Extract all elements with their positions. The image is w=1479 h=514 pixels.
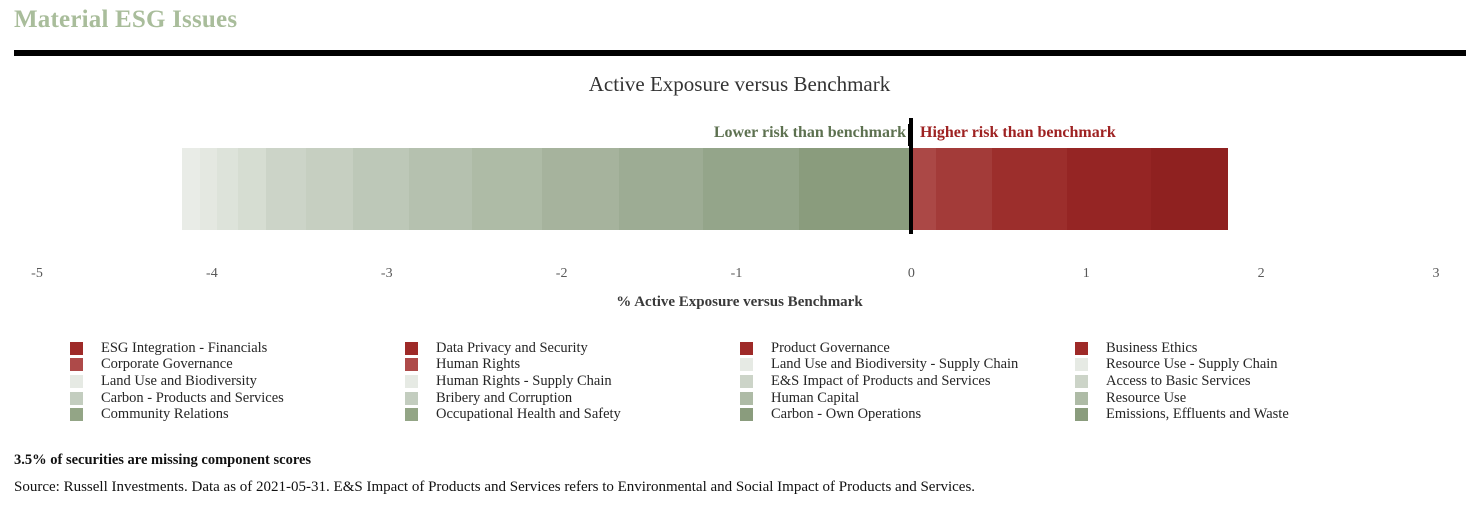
legend-item[interactable]: Community Relations xyxy=(70,406,405,423)
legend-swatch-icon xyxy=(405,392,418,405)
legend-column: Business EthicsResource Use - Supply Cha… xyxy=(1075,340,1410,423)
bar-segment xyxy=(619,148,703,230)
bar-segment xyxy=(353,148,409,230)
bar-segment xyxy=(936,148,992,230)
legend-item-label: Resource Use xyxy=(1106,390,1186,407)
bar-segment xyxy=(472,148,542,230)
x-axis-tick: 1 xyxy=(1083,266,1090,282)
legend-item[interactable]: Human Rights xyxy=(405,357,740,374)
bar-segment xyxy=(238,148,266,230)
legend-item-label: Carbon - Products and Services xyxy=(101,390,284,407)
legend-item-label: Community Relations xyxy=(101,406,229,423)
legend-item[interactable]: ESG Integration - Financials xyxy=(70,340,405,357)
legend-swatch-icon xyxy=(70,408,83,421)
legend-item-label: Emissions, Effluents and Waste xyxy=(1106,406,1289,423)
bar-segment xyxy=(703,148,799,230)
legend-item-label: Occupational Health and Safety xyxy=(436,406,621,423)
legend-swatch-icon xyxy=(1075,408,1088,421)
legend-item-label: Human Rights - Supply Chain xyxy=(436,373,612,390)
title-divider xyxy=(14,50,1466,56)
legend-item[interactable]: Resource Use - Supply Chain xyxy=(1075,357,1410,374)
legend-item[interactable]: Human Rights - Supply Chain xyxy=(405,373,740,390)
legend-item[interactable]: Carbon - Products and Services xyxy=(70,390,405,407)
legend-item-label: Human Rights xyxy=(436,356,520,373)
legend-item-label: Resource Use - Supply Chain xyxy=(1106,356,1278,373)
legend-swatch-icon xyxy=(1075,358,1088,371)
legend-item-label: Human Capital xyxy=(771,390,859,407)
lower-risk-label: Lower risk than benchmark xyxy=(714,124,906,142)
page-title: Material ESG Issues xyxy=(14,6,237,34)
bar-segment xyxy=(182,148,199,230)
bar-segment xyxy=(1067,148,1151,230)
legend-item[interactable]: Business Ethics xyxy=(1075,340,1410,357)
legend-item-label: E&S Impact of Products and Services xyxy=(771,373,990,390)
legend-item[interactable]: Emissions, Effluents and Waste xyxy=(1075,406,1410,423)
x-axis-tick: -4 xyxy=(206,266,218,282)
legend-item-label: Carbon - Own Operations xyxy=(771,406,921,423)
legend-item[interactable]: E&S Impact of Products and Services xyxy=(740,373,1075,390)
legend-swatch-icon xyxy=(405,375,418,388)
x-axis-label: % Active Exposure versus Benchmark xyxy=(0,294,1479,311)
legend-item-label: Access to Basic Services xyxy=(1106,373,1251,390)
legend-item[interactable]: Land Use and Biodiversity - Supply Chain xyxy=(740,357,1075,374)
legend-item-label: Data Privacy and Security xyxy=(436,340,588,357)
x-axis-tick: -2 xyxy=(556,266,568,282)
legend-item-label: Product Governance xyxy=(771,340,890,357)
legend-swatch-icon xyxy=(740,375,753,388)
legend-item[interactable]: Corporate Governance xyxy=(70,357,405,374)
legend-swatch-icon xyxy=(70,392,83,405)
bar-segment xyxy=(1151,148,1228,230)
legend-swatch-icon xyxy=(740,342,753,355)
x-axis-tick: 0 xyxy=(908,266,915,282)
legend-item-label: Land Use and Biodiversity - Supply Chain xyxy=(771,356,1018,373)
legend-column: Product GovernanceLand Use and Biodivers… xyxy=(740,340,1075,423)
bar-segment xyxy=(200,148,217,230)
higher-risk-label: Higher risk than benchmark xyxy=(920,124,1116,142)
legend-swatch-icon xyxy=(70,342,83,355)
legend-swatch-icon xyxy=(405,408,418,421)
legend-swatch-icon xyxy=(1075,392,1088,405)
x-axis-tick: 3 xyxy=(1433,266,1440,282)
legend-item[interactable]: Access to Basic Services xyxy=(1075,373,1410,390)
legend-item[interactable]: Data Privacy and Security xyxy=(405,340,740,357)
legend-swatch-icon xyxy=(70,358,83,371)
stacked-bar xyxy=(182,148,1228,230)
legend-swatch-icon xyxy=(740,392,753,405)
legend-swatch-icon xyxy=(740,358,753,371)
legend-swatch-icon xyxy=(70,375,83,388)
bar-segment xyxy=(799,148,911,230)
bar-segment xyxy=(911,148,935,230)
legend-swatch-icon xyxy=(1075,375,1088,388)
bar-segment xyxy=(409,148,472,230)
legend-swatch-icon xyxy=(405,342,418,355)
x-axis-tick: -5 xyxy=(31,266,43,282)
bar-segment xyxy=(217,148,238,230)
legend-item[interactable]: Product Governance xyxy=(740,340,1075,357)
legend-item-label: ESG Integration - Financials xyxy=(101,340,267,357)
legend-column: ESG Integration - FinancialsCorporate Go… xyxy=(70,340,405,423)
plot-area xyxy=(0,148,1479,232)
bar-segment xyxy=(266,148,306,230)
bar-segment xyxy=(306,148,353,230)
footnote: 3.5% of securities are missing component… xyxy=(14,452,311,469)
bar-segment xyxy=(542,148,619,230)
zero-axis-line xyxy=(909,118,913,234)
legend-item[interactable]: Carbon - Own Operations xyxy=(740,406,1075,423)
bar-segment xyxy=(992,148,1067,230)
legend-item-label: Bribery and Corruption xyxy=(436,390,572,407)
x-axis-tick: -3 xyxy=(381,266,393,282)
legend: ESG Integration - FinancialsCorporate Go… xyxy=(70,340,1410,423)
chart-title: Active Exposure versus Benchmark xyxy=(0,72,1479,97)
legend-swatch-icon xyxy=(740,408,753,421)
legend-column: Data Privacy and SecurityHuman RightsHum… xyxy=(405,340,740,423)
legend-item-label: Corporate Governance xyxy=(101,356,233,373)
x-axis-ticks: -5-4-3-2-10123 xyxy=(0,266,1479,286)
legend-item[interactable]: Human Capital xyxy=(740,390,1075,407)
x-axis-tick: 2 xyxy=(1258,266,1265,282)
legend-item[interactable]: Occupational Health and Safety xyxy=(405,406,740,423)
legend-item[interactable]: Bribery and Corruption xyxy=(405,390,740,407)
source-note: Source: Russell Investments. Data as of … xyxy=(14,479,975,496)
legend-item[interactable]: Resource Use xyxy=(1075,390,1410,407)
x-axis-tick: -1 xyxy=(731,266,743,282)
legend-swatch-icon xyxy=(1075,342,1088,355)
legend-item[interactable]: Land Use and Biodiversity xyxy=(70,373,405,390)
legend-item-label: Business Ethics xyxy=(1106,340,1197,357)
legend-swatch-icon xyxy=(405,358,418,371)
legend-item-label: Land Use and Biodiversity xyxy=(101,373,257,390)
risk-label-row: Lower risk than benchmark Higher risk th… xyxy=(0,124,1479,146)
